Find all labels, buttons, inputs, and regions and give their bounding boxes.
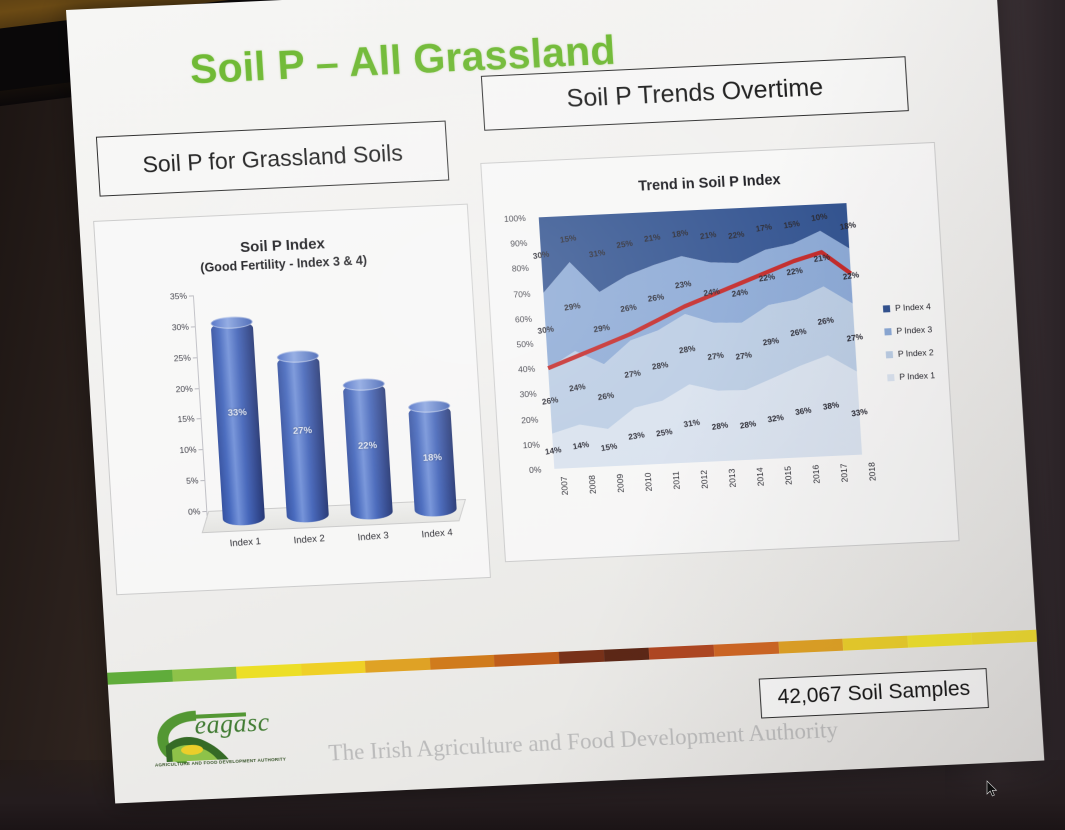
teagasc-logo-wordmark: eagasc <box>194 707 271 740</box>
bar-chart-category-label: Index 3 <box>338 529 409 545</box>
area-chart-y-tick: 50% <box>516 339 534 350</box>
area-chart-legend: P Index 4P Index 3P Index 2P Index 1 <box>883 301 936 395</box>
teagasc-logo: eagasc AGRICULTURE AND FOOD DEVELOPMENT … <box>149 699 313 778</box>
bar-chart-value-label: 18% <box>411 451 454 464</box>
area-chart-title: Trend in Soil P Index <box>483 165 937 202</box>
footer-tagline: The Irish Agriculture and Food Developme… <box>328 717 839 767</box>
area-chart-y-tick: 0% <box>529 464 542 475</box>
area-chart-data-label: 28% <box>678 344 696 355</box>
bar-chart-category-label: Index 2 <box>274 532 345 548</box>
area-chart-x-tick: 2009 <box>615 474 626 493</box>
area-chart-y-tick: 30% <box>519 389 537 400</box>
brand-strip-segment <box>494 652 559 667</box>
presentation-slide: Soil P – All Grassland Soil P for Grassl… <box>66 0 1044 803</box>
left-section-header-label: Soil P for Grassland Soils <box>142 139 404 178</box>
bar-chart-plot: 0%5%10%15%20%25%30%35% 33%Index 127%Inde… <box>151 283 466 546</box>
area-chart-y-tick: 100% <box>504 213 526 224</box>
brand-strip-segment <box>604 648 650 662</box>
left-section-header: Soil P for Grassland Soils <box>96 121 449 197</box>
bar-chart-y-tick: 5% <box>186 475 199 486</box>
area-chart-y-tick: 10% <box>522 439 540 450</box>
area-chart-data-label: 25% <box>655 427 673 438</box>
area-chart-legend-label: P Index 2 <box>898 347 934 359</box>
legend-swatch-icon <box>884 328 891 335</box>
area-chart-data-label: 38% <box>822 400 840 411</box>
area-chart-plot: 0%10%20%30%40%50%60%70%80%90%100% 14%14%… <box>530 196 878 501</box>
bar-chart-y-tick: 35% <box>170 291 188 302</box>
bar-chart-column: 27% <box>277 355 329 523</box>
legend-swatch-icon <box>886 351 893 358</box>
area-chart-legend-item[interactable]: P Index 4 <box>883 301 931 313</box>
mouse-cursor-icon <box>986 780 998 798</box>
area-chart-y-tick: 90% <box>510 238 528 249</box>
area-chart-x-tick: 2014 <box>755 467 766 486</box>
area-chart-x-tick: 2016 <box>811 465 822 484</box>
bar-chart-y-tick: 30% <box>172 321 190 332</box>
bar-chart-category-label: Index 1 <box>210 535 281 551</box>
bar-chart-value-label: 33% <box>216 406 259 419</box>
area-chart-x-tick: 2013 <box>727 468 738 487</box>
area-chart-legend-label: P Index 4 <box>895 301 931 313</box>
area-chart-data-label: 22% <box>758 272 776 283</box>
soil-samples-badge-label: 42,067 Soil Samples <box>777 677 971 710</box>
brand-strip-segment <box>843 636 908 651</box>
area-chart-y-tick: 20% <box>521 414 539 425</box>
area-chart-x-tick: 2018 <box>867 462 878 481</box>
area-chart-legend-item[interactable]: P Index 2 <box>886 347 934 359</box>
area-chart-panel: Trend in Soil P Index 0%10%20%30%40%50%6… <box>480 142 959 562</box>
brand-strip-segment <box>972 630 1037 645</box>
bar-chart-columns: 33%Index 127%Index 222%Index 318%Index 4 <box>151 283 451 297</box>
area-chart-x-tick: 2007 <box>559 476 570 495</box>
bar-chart-column: 33% <box>211 321 266 526</box>
right-section-header-label: Soil P Trends Overtime <box>566 73 824 114</box>
area-chart-legend-label: P Index 1 <box>899 370 935 382</box>
brand-strip-segment <box>649 645 714 660</box>
bar-chart-y-tick: 25% <box>173 352 191 363</box>
area-chart-y-tick: 80% <box>512 263 530 274</box>
bar-chart-y-axis: 0%5%10%15%20%25%30%35% <box>151 295 207 528</box>
brand-strip-segment <box>907 633 972 648</box>
area-chart-data-label: 29% <box>563 301 581 312</box>
bar-chart-y-tick: 10% <box>179 445 197 456</box>
area-chart-data-label: 29% <box>593 322 611 333</box>
brand-strip-segment <box>559 650 605 664</box>
area-chart-legend-label: P Index 3 <box>896 324 932 336</box>
bar-chart-column: 18% <box>408 405 457 518</box>
brand-strip-segment <box>430 655 495 670</box>
brand-strip-segment <box>301 661 366 676</box>
area-chart-x-tick: 2012 <box>699 470 710 489</box>
area-chart-x-tick: 2010 <box>643 472 654 491</box>
area-chart-y-tick: 60% <box>515 314 533 325</box>
legend-swatch-icon <box>883 305 890 312</box>
legend-swatch-icon <box>887 374 894 381</box>
area-chart-y-tick: 40% <box>518 364 536 375</box>
brand-strip-segment <box>714 642 779 657</box>
brand-strip-segment <box>236 664 301 679</box>
bar-chart-y-tick: 0% <box>188 506 201 517</box>
bar-chart-category-label: Index 4 <box>402 526 473 542</box>
bar-chart-column: 22% <box>343 383 393 520</box>
area-chart-x-tick: 2017 <box>839 463 850 482</box>
bar-chart-panel: Soil P Index (Good Fertility - Index 3 &… <box>93 204 491 596</box>
brand-strip-segment <box>172 667 237 682</box>
area-chart-y-tick: 70% <box>513 288 531 299</box>
brand-strip-segment <box>365 658 430 673</box>
bar-chart-y-tick: 15% <box>177 414 195 425</box>
brand-strip-segment <box>778 639 843 654</box>
bar-chart-y-tick: 20% <box>175 383 193 394</box>
area-chart-x-tick: 2015 <box>783 466 794 485</box>
area-chart-legend-item[interactable]: P Index 1 <box>887 370 935 382</box>
bar-chart-value-label: 22% <box>346 440 389 453</box>
bar-chart-value-label: 27% <box>281 425 324 438</box>
area-chart-x-tick: 2008 <box>587 475 598 494</box>
soil-samples-badge: 42,067 Soil Samples <box>759 668 989 718</box>
brand-strip-segment <box>107 670 172 685</box>
projected-slide-area: Soil P – All Grassland Soil P for Grassl… <box>66 0 1045 808</box>
area-chart-x-tick: 2011 <box>671 471 682 490</box>
area-chart-legend-item[interactable]: P Index 3 <box>884 324 932 336</box>
